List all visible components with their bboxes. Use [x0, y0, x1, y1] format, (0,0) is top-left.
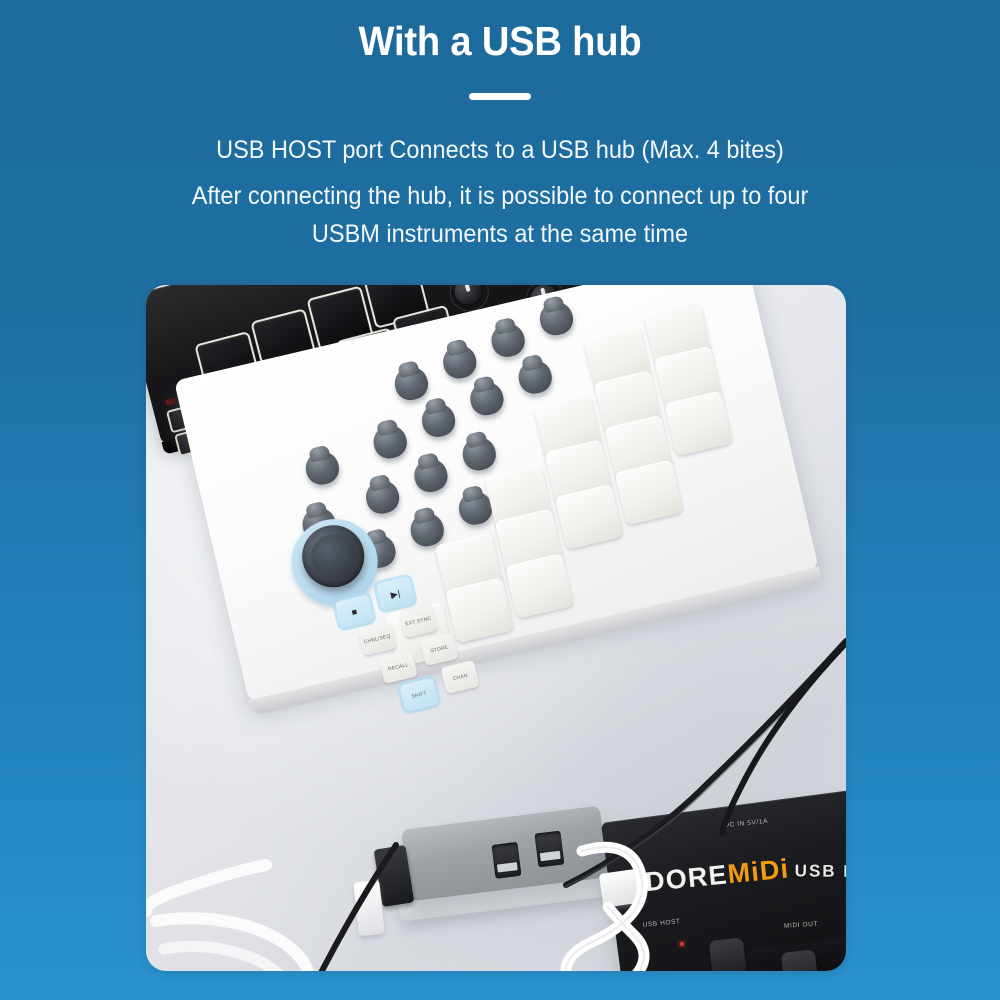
- white-usb-cable-left: [146, 865, 266, 911]
- product-photo: ■ ▶| CHNL/SEQ EXT SYNC RECALL STORE SHIF…: [146, 285, 846, 971]
- product-photo-card: ■ ▶| CHNL/SEQ EXT SYNC RECALL STORE SHIF…: [146, 285, 846, 971]
- black-cable-left: [288, 845, 396, 971]
- subtitle-block: USB HOST port Connects to a USB hub (Max…: [30, 131, 970, 253]
- title-divider: [469, 93, 531, 100]
- promo-page: With a USB hub USB HOST port Connects to…: [0, 0, 1000, 1000]
- white-cable-coil-inner: [156, 947, 290, 971]
- subtitle-line-1: USB HOST port Connects to a USB hub (Max…: [30, 131, 970, 169]
- page-title: With a USB hub: [35, 18, 965, 65]
- subtitle-line-3: USBM instruments at the same time: [30, 215, 970, 253]
- black-cable-to-host: [722, 643, 846, 833]
- cables-layer: [146, 285, 846, 971]
- subtitle-line-2: After connecting the hub, it is possible…: [30, 177, 970, 215]
